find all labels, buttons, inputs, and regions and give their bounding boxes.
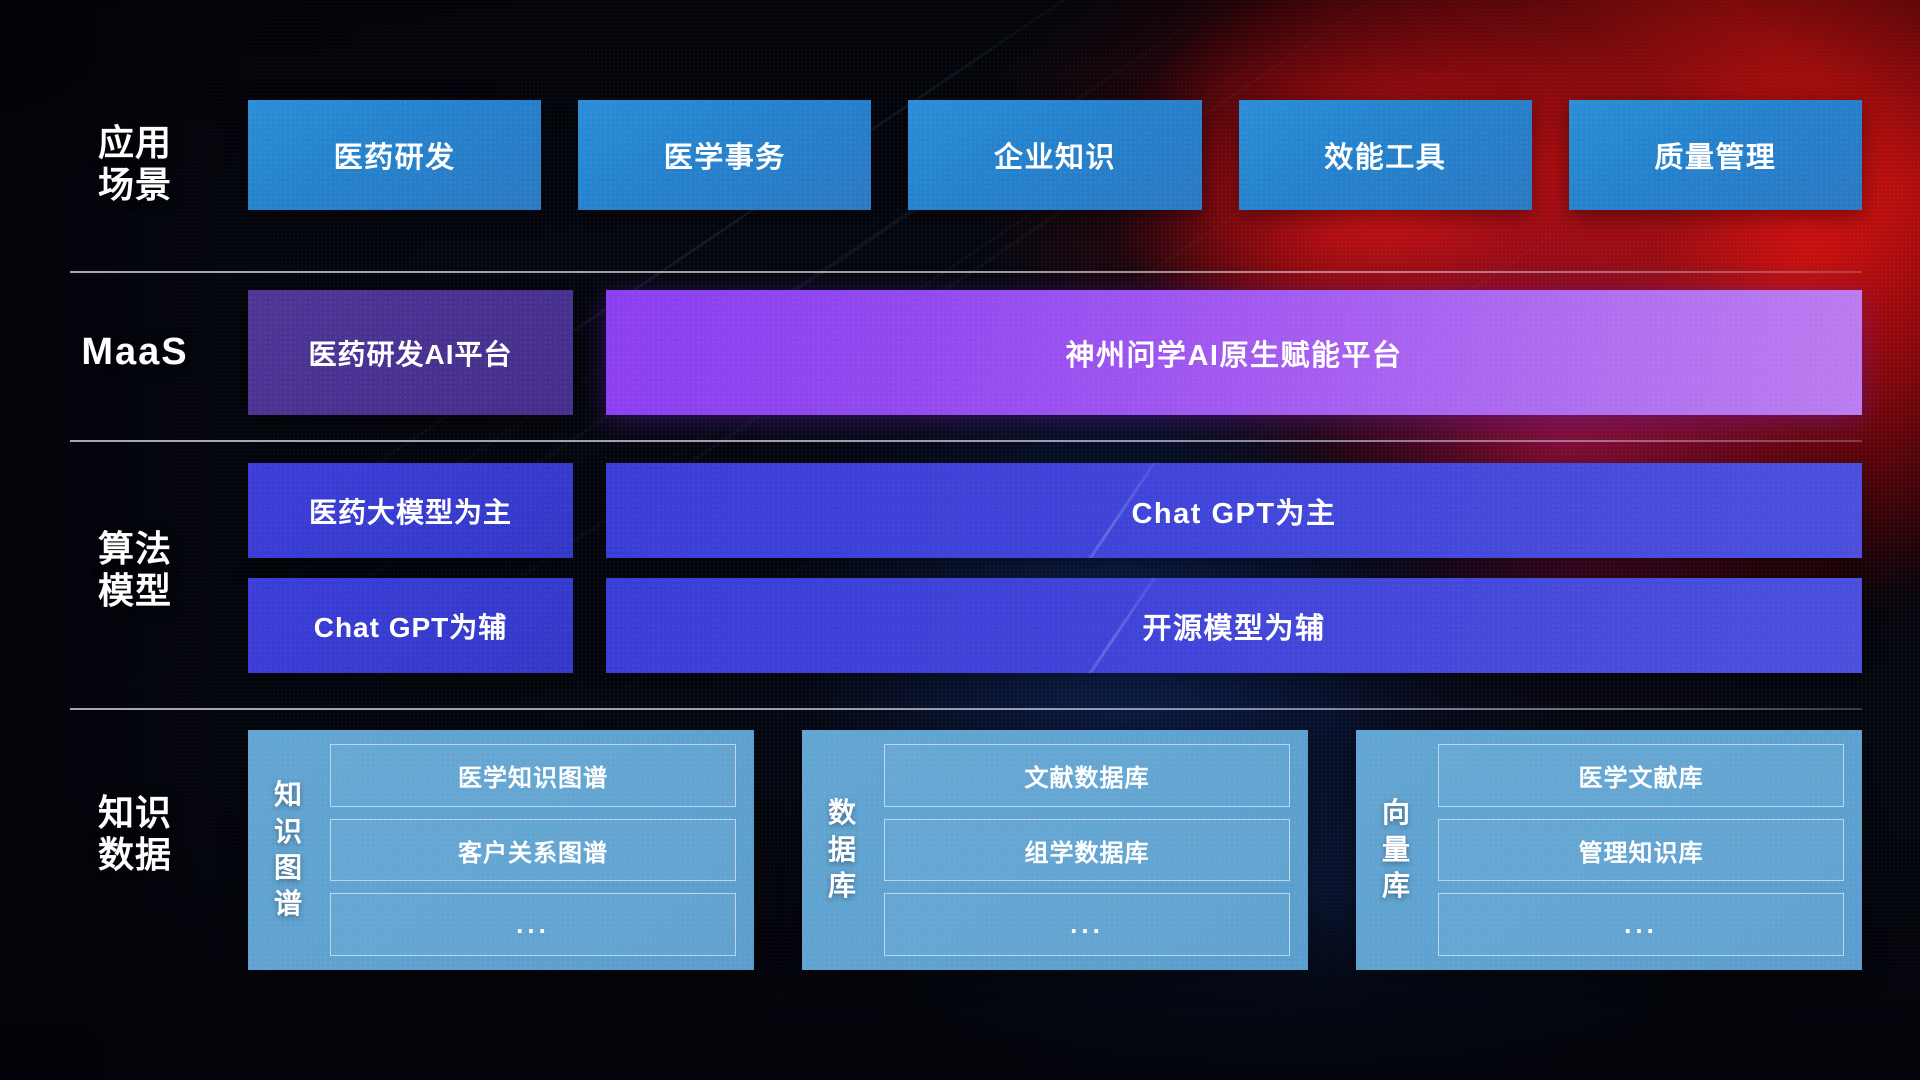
divider-apps-maas — [70, 271, 1862, 273]
layer-label-algorithm-models: 算法模型 — [70, 528, 200, 613]
layer-label-knowledge-data: 知识数据 — [70, 792, 200, 877]
layer-application-scenarios: 应用场景 医药研发 医学事务 企业知识 效能工具 质量管理 — [0, 100, 1920, 240]
app-card-efficiency-tools[interactable]: 效能工具 — [1239, 100, 1532, 210]
knowledge-group-track: 知识图谱 医学知识图谱 客户关系图谱 ... 数据库 文献数据库 组学数据库 .… — [248, 730, 1862, 970]
knowledge-group-vector-store[interactable]: 向量库 医学文献库 管理知识库 ... — [1356, 730, 1862, 970]
knowledge-group-title-database: 数据库 — [818, 795, 866, 904]
knowledge-item-more-graph[interactable]: ... — [330, 893, 736, 956]
architecture-diagram: 应用场景 医药研发 医学事务 企业知识 效能工具 质量管理 MaaS 医药研发A… — [0, 0, 1920, 1080]
maas-platform-medicine-rd[interactable]: 医药研发AI平台 — [248, 290, 573, 415]
layer-label-application-scenarios: 应用场景 — [70, 122, 200, 207]
layer-label-maas: MaaS — [70, 330, 200, 375]
app-card-medical-affairs[interactable]: 医学事务 — [578, 100, 871, 210]
divider-maas-algo — [70, 440, 1862, 442]
knowledge-item-list: 医学文献库 管理知识库 ... — [1438, 744, 1844, 956]
algo-box-medicine-large-model-primary[interactable]: 医药大模型为主 — [248, 463, 573, 558]
app-card-quality-management[interactable]: 质量管理 — [1569, 100, 1862, 210]
knowledge-group-knowledge-graph[interactable]: 知识图谱 医学知识图谱 客户关系图谱 ... — [248, 730, 754, 970]
algorithm-line-secondary: Chat GPT为辅 开源模型为辅 — [248, 578, 1862, 673]
layer-algorithm-models: 算法模型 医药大模型为主 Chat GPT为主 Chat GPT为辅 开源模型为… — [0, 463, 1920, 703]
application-card-track: 医药研发 医学事务 企业知识 效能工具 质量管理 — [248, 100, 1862, 210]
knowledge-item-customer-relation-graph[interactable]: 客户关系图谱 — [330, 819, 736, 882]
knowledge-item-omics-database[interactable]: 组学数据库 — [884, 819, 1290, 882]
layer-maas: MaaS 医药研发AI平台 神州问学AI原生赋能平台 — [0, 290, 1920, 420]
knowledge-group-title-vector-store: 向量库 — [1372, 795, 1420, 904]
knowledge-item-medical-literature-store[interactable]: 医学文献库 — [1438, 744, 1844, 807]
knowledge-item-list: 文献数据库 组学数据库 ... — [884, 744, 1290, 956]
knowledge-item-medical-knowledge-graph[interactable]: 医学知识图谱 — [330, 744, 736, 807]
knowledge-item-literature-database[interactable]: 文献数据库 — [884, 744, 1290, 807]
knowledge-group-database[interactable]: 数据库 文献数据库 组学数据库 ... — [802, 730, 1308, 970]
layer-knowledge-data: 知识数据 知识图谱 医学知识图谱 客户关系图谱 ... 数据库 文献数据库 组学… — [0, 730, 1920, 980]
maas-track: 医药研发AI平台 神州问学AI原生赋能平台 — [248, 290, 1862, 415]
app-card-medicine-rd[interactable]: 医药研发 — [248, 100, 541, 210]
algo-box-opensource-secondary[interactable]: 开源模型为辅 — [606, 578, 1862, 673]
maas-platform-shenzhou-wenxue[interactable]: 神州问学AI原生赋能平台 — [606, 290, 1862, 415]
knowledge-item-more-database[interactable]: ... — [884, 893, 1290, 956]
algo-box-chatgpt-secondary[interactable]: Chat GPT为辅 — [248, 578, 573, 673]
knowledge-item-management-knowledge-store[interactable]: 管理知识库 — [1438, 819, 1844, 882]
divider-algo-knowledge — [70, 708, 1862, 710]
app-card-enterprise-knowledge[interactable]: 企业知识 — [908, 100, 1201, 210]
knowledge-group-title-knowledge-graph: 知识图谱 — [264, 777, 312, 923]
algorithm-line-primary: 医药大模型为主 Chat GPT为主 — [248, 463, 1862, 558]
knowledge-item-more-vector[interactable]: ... — [1438, 893, 1844, 956]
algo-box-chatgpt-primary[interactable]: Chat GPT为主 — [606, 463, 1862, 558]
knowledge-item-list: 医学知识图谱 客户关系图谱 ... — [330, 744, 736, 956]
